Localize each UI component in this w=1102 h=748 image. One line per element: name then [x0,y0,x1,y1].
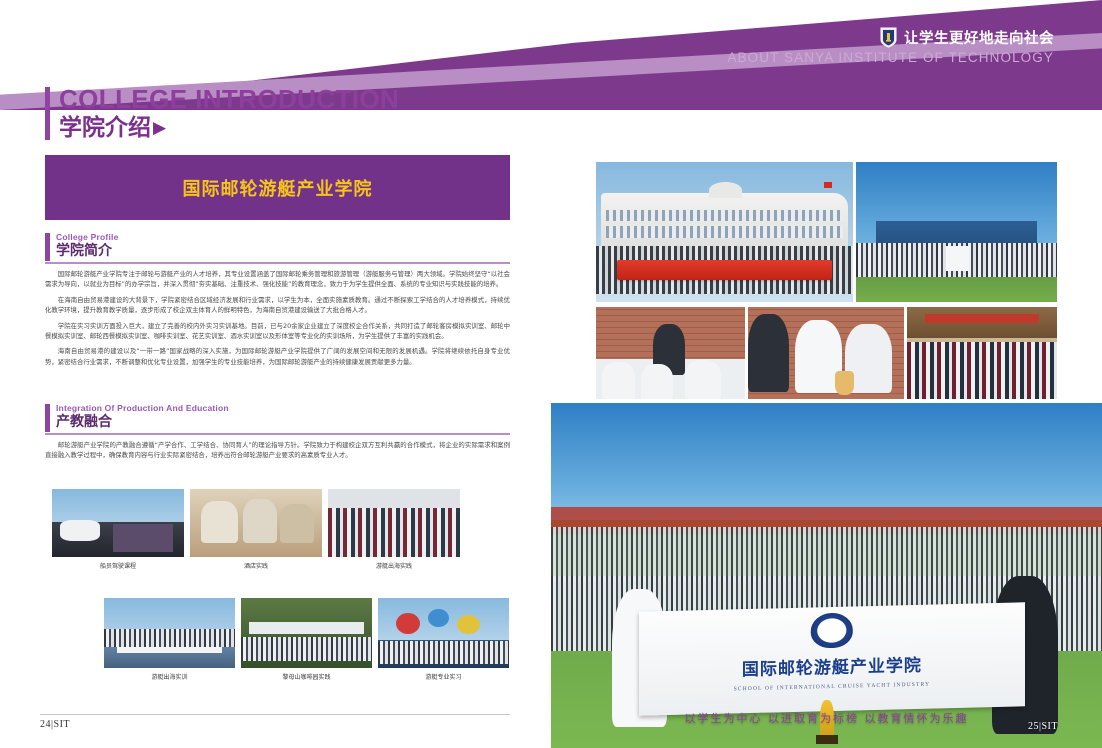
banner-title-cn: 国际邮轮游艇产业学院 [639,647,1025,681]
photo-cell: 黎母山咖啡园实践 [241,598,372,681]
stadium-group-photo [856,162,1057,302]
right-page: 国际邮轮游艇产业学院 SCHOOL OF INTERNATIONAL CRUIS… [551,0,1102,748]
page-title: COLLEGE INTRODUCTION 学院介绍 ▶ [45,84,399,142]
brochure-spread: 让学生更好地走向社会 ABOUT SANYA INSTITUTE OF TECH… [0,0,1102,748]
photo-cell: 游艇专业实习 [378,598,509,681]
section-divider [45,262,510,264]
paragraph: 国际邮轮游艇产业学院专注于邮轮与游艇产业的人才培养，其专业设置涵盖了国际邮轮乘务… [45,269,510,290]
yacht-sailing-training-photo [104,598,235,668]
page-number-value: 24 [40,719,51,730]
page-mark: SIT [54,719,71,730]
section-divider [45,433,510,435]
page-number-value: 25 [1028,721,1039,732]
photo-cell: 游艇出海实训 [104,598,235,681]
limushan-coffee-garden-photo [241,598,372,668]
paragraph: 海南自由贸易港的建设以及“一带一路”国家战略的深入实施，为国际邮轮游艇产业学院提… [45,346,510,367]
hotel-practice-photo [190,489,322,557]
section-college-profile: College Profile 学院简介 国际邮轮游艇产业学院专注于邮轮与游艇产… [45,232,510,367]
students-beverage-service-photo [748,307,904,399]
page-title-en: COLLEGE INTRODUCTION [59,84,399,114]
auditorium-assembly-photo [907,307,1057,399]
paragraph: 学院在实习实训方面投入巨大，建立了完善的校内外实习实训基地。目前，已与20余家企… [45,321,510,342]
calligraphy-overlay-text: 以学生为中心 以进取育为标榜 以教育情怀为乐趣 [551,710,1102,726]
footer-divider [40,714,510,715]
triangle-right-icon: ▶ [153,120,166,137]
photo-caption: 船员驾驶课程 [52,561,184,570]
cruise-ship-group-photo-with-red-banner [596,162,853,302]
photo-cell: 船员驾驶课程 [52,489,184,570]
barista-coffee-class-photo [596,307,745,399]
photo-cell: 游艇出海实践 [328,489,460,570]
page-number-left: 24|SIT [40,719,70,730]
page-number-right: 25|SIT [1028,721,1058,732]
college-name-banner-text: 国际邮轮游艇产业学院 [183,175,373,201]
section-heading-en: College Profile [56,232,510,243]
photo-caption: 游艇专业实习 [378,672,509,681]
page-title-cn: 学院介绍 ▶ [59,114,399,142]
section-heading-cn: 学院简介 [56,243,510,260]
college-field-banner: 国际邮轮游艇产业学院 SCHOOL OF INTERNATIONAL CRUIS… [639,602,1025,715]
photo-caption: 游艇出海实训 [104,672,235,681]
title-accent-bar [45,87,50,140]
photo-row-1: 船员驾驶课程 酒店实践 游艇出海实践 [52,489,460,570]
yacht-sailing-practice-photo [328,489,460,557]
photo-caption: 游艇出海实践 [328,561,460,570]
section-heading: Integration Of Production And Education … [45,403,510,431]
section-heading: College Profile 学院简介 [45,232,510,260]
section-heading-cn: 产教融合 [56,414,510,431]
paragraph: 邮轮游艇产业学院的产教融合遵循“产学合作、工学结合、协同育人”的理论指导方针。学… [45,440,510,461]
section-integration: Integration Of Production And Education … [45,403,510,461]
banner-crest-icon [811,612,853,648]
page-mark: SIT [1042,721,1059,732]
yacht-major-internship-photo [378,598,509,668]
page-title-cn-text: 学院介绍 [59,114,151,142]
photo-cell: 酒店实践 [190,489,322,570]
paragraph: 在海南自由贸易港建设的大背景下，学院紧密结合区域经济发展和行业需求，以学生为本，… [45,295,510,316]
photo-caption: 黎母山咖啡园实践 [241,672,372,681]
photo-row-2: 游艇出海实训 黎母山咖啡园实践 游艇专业实 [104,598,509,681]
college-name-banner: 国际邮轮游艇产业学院 [45,155,510,220]
ship-bridge-class-photo [52,489,184,557]
photo-caption: 酒店实践 [190,561,322,570]
left-page: COLLEGE INTRODUCTION 学院介绍 ▶ 国际邮轮游艇产业学院 C… [0,0,551,748]
section-heading-en: Integration Of Production And Education [56,403,510,414]
field-group-photo-with-white-banner: 国际邮轮游艇产业学院 SCHOOL OF INTERNATIONAL CRUIS… [551,403,1102,748]
